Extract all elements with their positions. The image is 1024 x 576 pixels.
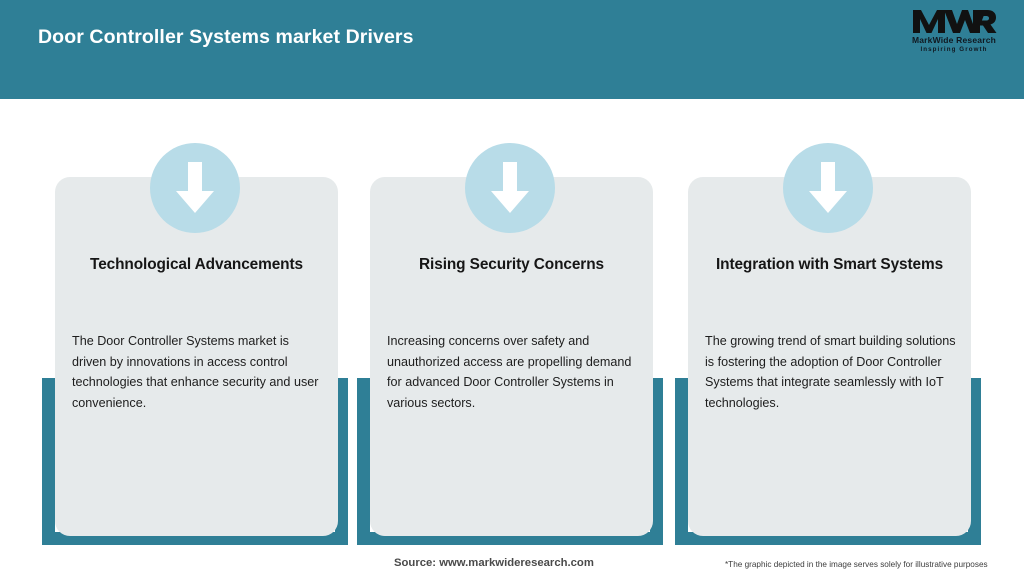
page-title: Door Controller Systems market Drivers <box>38 26 414 49</box>
disclaimer-note: *The graphic depicted in the image serve… <box>725 560 988 569</box>
down-arrow-glyph <box>488 160 532 216</box>
logo-company-name: MarkWide Research <box>898 35 1010 45</box>
source-note: Source: www.markwideresearch.com <box>394 557 594 569</box>
logo-tagline: Inspiring Growth <box>898 46 1010 53</box>
driver-body: Increasing concerns over safety and unau… <box>387 331 640 413</box>
driver-body: The growing trend of smart building solu… <box>705 331 958 413</box>
driver-block: Technological Advancements The Door Cont… <box>42 143 348 545</box>
mwr-logo-icon <box>911 8 997 34</box>
driver-block: Rising Security Concerns Increasing conc… <box>357 143 663 545</box>
frame-left-bar <box>42 378 55 545</box>
driver-heading: Technological Advancements <box>69 252 324 277</box>
driver-body: The Door Controller Systems market is dr… <box>72 331 325 413</box>
brand-logo: MarkWide Research Inspiring Growth <box>898 8 1010 62</box>
header-band: Door Controller Systems market Drivers M… <box>0 0 1024 99</box>
down-arrow-glyph <box>806 160 850 216</box>
down-arrow-glyph <box>173 160 217 216</box>
frame-left-bar <box>357 378 370 545</box>
down-arrow-icon <box>783 143 873 233</box>
down-arrow-icon <box>465 143 555 233</box>
down-arrow-icon <box>150 143 240 233</box>
driver-block: Integration with Smart Systems The growi… <box>675 143 981 545</box>
driver-heading: Integration with Smart Systems <box>702 252 957 277</box>
driver-heading: Rising Security Concerns <box>384 252 639 277</box>
frame-left-bar <box>675 378 688 545</box>
